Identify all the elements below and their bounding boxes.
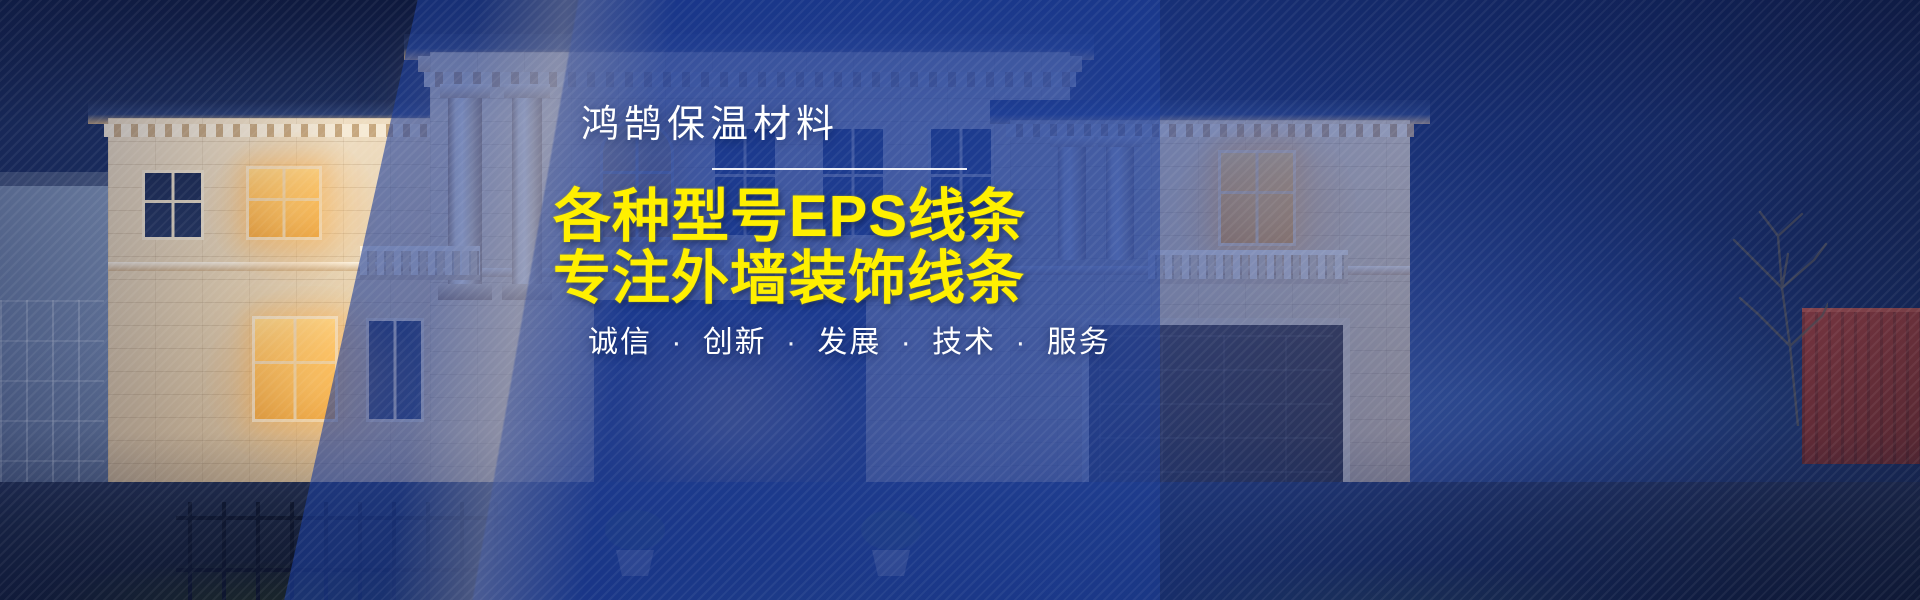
slogan-item-1: 诚信 xyxy=(588,326,652,359)
slogan-separator-3: · xyxy=(892,326,922,359)
slogan-separator-4: · xyxy=(1006,326,1036,359)
slogan-item-5: 服务 xyxy=(1047,326,1111,359)
brand-divider-rule xyxy=(712,168,967,170)
slogan-item-3: 发展 xyxy=(817,326,881,359)
slogan-item-4: 技术 xyxy=(932,326,996,359)
banner-text-block: 鸿鹄保温材料 各种型号EPS线条 专注外墙装饰线条 诚信 · 创新 · 发展 ·… xyxy=(0,0,1920,600)
brand-name: 鸿鹄保温材料 xyxy=(581,106,839,144)
slogan-item-2: 创新 xyxy=(703,326,767,359)
slogan: 诚信 · 创新 · 发展 · 技术 · 服务 xyxy=(588,328,1111,358)
hero-banner: 鸿鹄保温材料 各种型号EPS线条 专注外墙装饰线条 诚信 · 创新 · 发展 ·… xyxy=(0,0,1920,600)
headline-line-1: 各种型号EPS线条 xyxy=(553,184,1026,249)
slogan-separator-1: · xyxy=(662,326,692,359)
headline: 各种型号EPS线条 专注外墙装饰线条 xyxy=(553,186,1026,310)
headline-line-2: 专注外墙装饰线条 xyxy=(553,248,1026,310)
slogan-separator-2: · xyxy=(777,326,807,359)
